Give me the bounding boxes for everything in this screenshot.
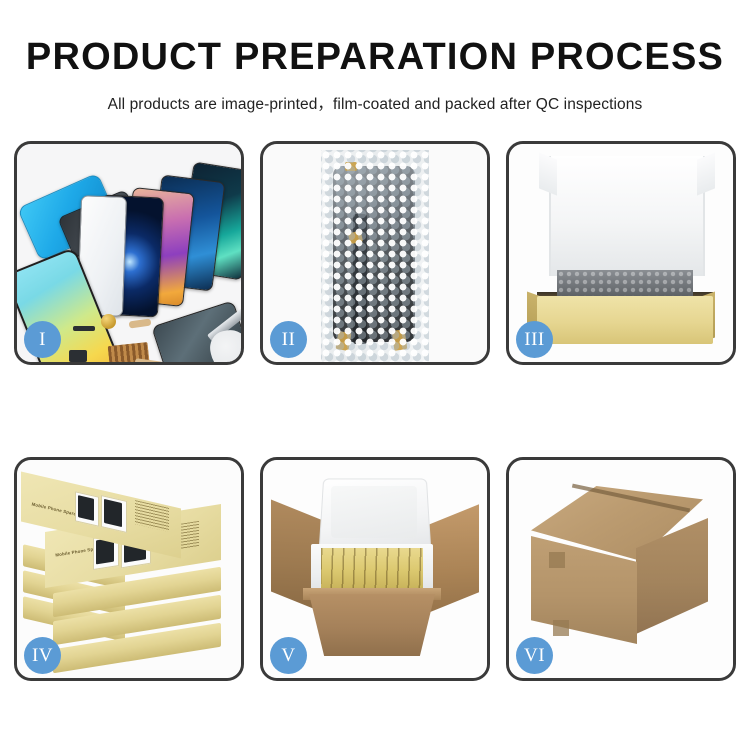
step-numeral-4: IV — [32, 645, 53, 667]
step-panel-1[interactable]: I — [14, 141, 244, 365]
step-2-image: II — [263, 144, 487, 362]
step-numeral-2: II — [282, 329, 296, 351]
box-front-panel-graphic — [537, 296, 713, 344]
box-lid-graphic — [549, 156, 705, 276]
step-numeral-1: I — [39, 329, 46, 351]
step-panel-4[interactable]: Mobile Phone Spare Parts Mobile Phone Sp… — [14, 457, 244, 681]
carton-tape-bottom-graphic — [553, 620, 569, 636]
step-5-image: V — [263, 460, 487, 678]
carton-front-graphic — [309, 594, 435, 656]
bubble-texture-graphic — [321, 150, 429, 362]
step-badge-5: V — [270, 637, 307, 674]
step-numeral-6: VI — [524, 645, 545, 667]
label-screen-image-4 — [104, 499, 122, 527]
label-screen-image-3 — [78, 495, 94, 521]
step-panel-3[interactable]: III — [506, 141, 736, 365]
step-numeral-5: V — [281, 645, 295, 667]
speaker-part-graphic — [101, 314, 116, 329]
step-4-image: Mobile Phone Spare Parts Mobile Phone Sp… — [17, 460, 241, 678]
carton-tape-top-graphic — [549, 552, 565, 568]
step-panel-2[interactable]: II — [260, 141, 490, 365]
step-numeral-3: III — [524, 329, 544, 351]
step-badge-2: II — [270, 321, 307, 358]
connector-part-graphic — [69, 350, 87, 362]
step-panel-5[interactable]: V — [260, 457, 490, 681]
step-1-image: I — [17, 144, 241, 362]
page-subtitle: All products are image-printed，film-coat… — [0, 92, 750, 114]
step-badge-6: VI — [516, 637, 553, 674]
step-6-image: VI — [509, 460, 733, 678]
page-header: PRODUCT PREPARATION PROCESS All products… — [0, 0, 750, 114]
small-part-graphic — [73, 326, 95, 331]
step-badge-4: IV — [24, 637, 61, 674]
step-panel-6[interactable]: VI — [506, 457, 736, 681]
step-badge-3: III — [516, 321, 553, 358]
foam-lid-inner-graphic — [331, 486, 417, 538]
step-3-image: III — [509, 144, 733, 362]
packed-boxes-seams-graphic — [321, 548, 423, 588]
step-badge-1: I — [24, 321, 61, 358]
page-title: PRODUCT PREPARATION PROCESS — [0, 38, 750, 78]
process-steps-grid: I II — [14, 141, 736, 681]
